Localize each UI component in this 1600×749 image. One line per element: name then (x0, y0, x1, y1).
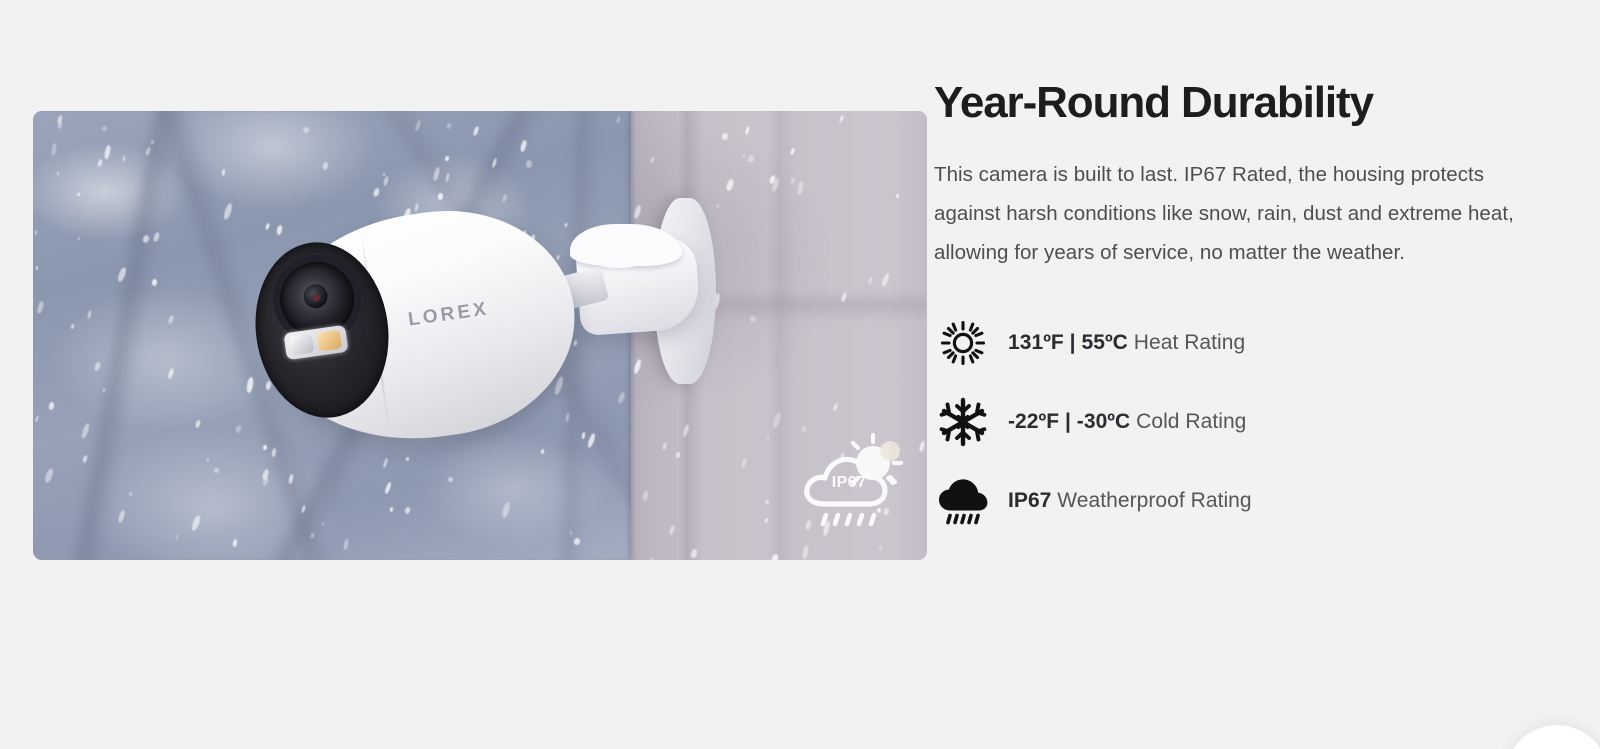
year-round-durability-section: LOREX (0, 0, 1600, 749)
rain-cloud-icon (934, 475, 992, 527)
spec-row-cold-rating: -22ºF | -30ºC Cold Rating (934, 393, 1534, 451)
spec-text-heat-rating: 131ºF | 55ºC Heat Rating (1008, 331, 1245, 355)
spec-row-weatherproof-rating: IP67 Weatherproof Rating (934, 472, 1534, 530)
ip67-badge-label: IP67 (795, 474, 903, 492)
durability-copy-column: Year-Round Durability This camera is bui… (934, 78, 1534, 530)
spec-text-cold-rating: -22ºF | -30ºC Cold Rating (1008, 410, 1246, 434)
spec-value-weatherproof-rating: IP67 (1008, 489, 1051, 512)
spec-label-cold-rating: Cold Rating (1136, 410, 1246, 433)
product-image: LOREX (33, 111, 927, 560)
spec-label-weatherproof-rating: Weatherproof Rating (1057, 489, 1251, 512)
spec-list: 131ºF | 55ºC Heat Rating (934, 314, 1534, 530)
spec-text-weatherproof-rating: IP67 Weatherproof Rating (1008, 489, 1252, 513)
spec-label-heat-rating: Heat Rating (1134, 331, 1245, 354)
chat-support-button[interactable] (1505, 725, 1600, 749)
page-title: Year-Round Durability (934, 78, 1534, 127)
sun-icon (934, 317, 992, 369)
spec-value-cold-rating: -22ºF | -30ºC (1008, 410, 1130, 433)
description-paragraph: This camera is built to last. IP67 Rated… (934, 155, 1522, 272)
lorex-bullet-camera: LOREX (248, 196, 708, 486)
snowflake-icon (934, 396, 992, 448)
spec-row-heat-rating: 131ºF | 55ºC Heat Rating (934, 314, 1534, 372)
ip67-weather-badge: IP67 (795, 429, 903, 533)
spec-value-heat-rating: 131ºF | 55ºC (1008, 331, 1128, 354)
camera-scene-photo: LOREX (33, 111, 927, 560)
